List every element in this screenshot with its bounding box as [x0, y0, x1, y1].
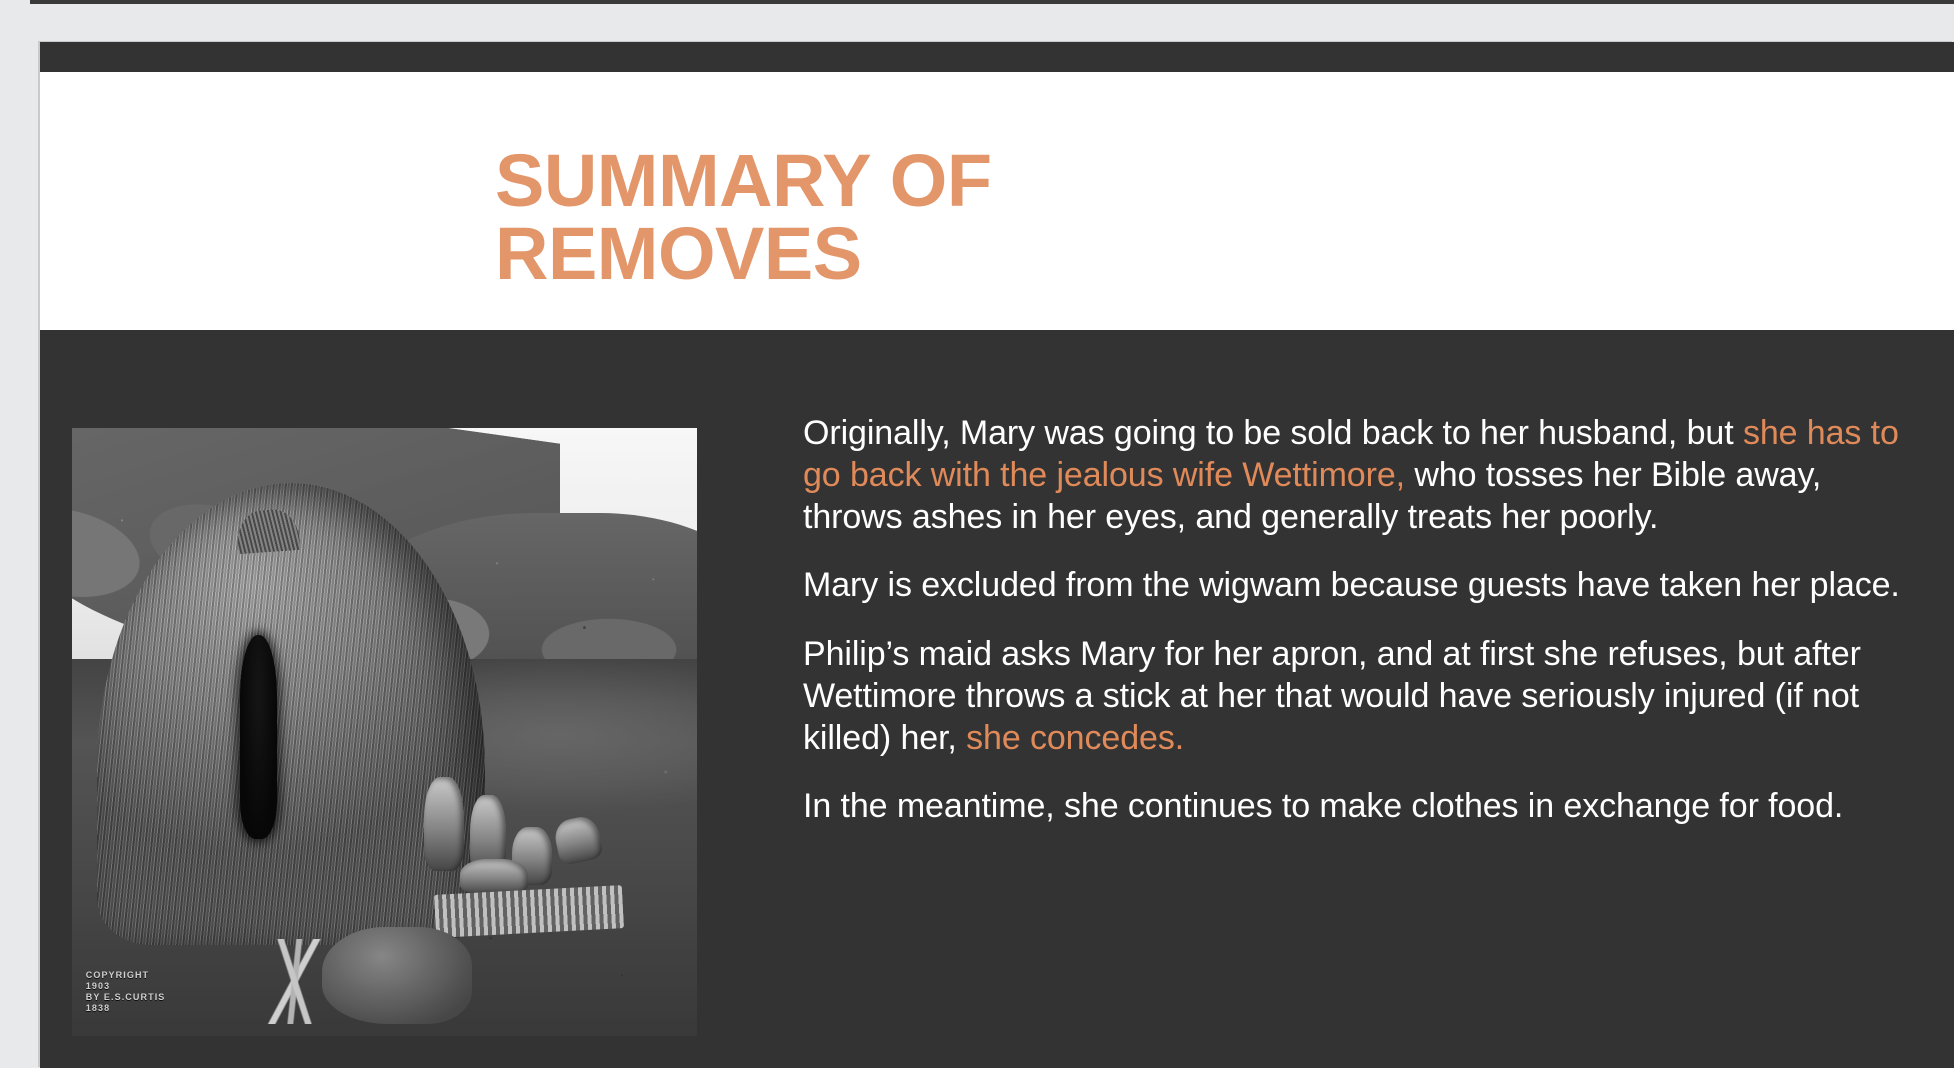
slide-photo[interactable]: COPYRIGHT 1903 BY E.S.CURTIS 1838: [72, 428, 697, 1036]
slide-body-panel: COPYRIGHT 1903 BY E.S.CURTIS 1838 Origin…: [40, 330, 1954, 1068]
body-paragraph: In the meantime, she continues to make c…: [803, 785, 1913, 827]
slide-header-band: [40, 42, 1954, 72]
photo-wigwam-crown: [235, 508, 300, 554]
slide-body-text: Originally, Mary was going to be sold ba…: [803, 412, 1913, 827]
photo-basket-tall: [424, 777, 464, 870]
slide[interactable]: SUMMARY OF REMOVES: [40, 42, 1954, 1068]
body-text-run: Originally, Mary was going to be sold ba…: [803, 414, 1743, 452]
photo-bowl-banded: [460, 859, 528, 894]
body-text-run: Mary is excluded from the wigwam because…: [803, 566, 1900, 604]
body-text-run: In the meantime, she continues to make c…: [803, 787, 1843, 825]
highlighted-text: she concedes.: [966, 719, 1184, 757]
photo-basket-striped: [552, 814, 604, 866]
body-paragraph: Mary is excluded from the wigwam because…: [803, 564, 1913, 606]
body-paragraph: Philip’s maid asks Mary for her apron, a…: [803, 633, 1913, 759]
slide-title-panel: SUMMARY OF REMOVES: [40, 72, 1954, 330]
presentation-app: SUMMARY OF REMOVES: [0, 0, 1954, 1068]
photo-foreground-rock: [322, 927, 472, 1024]
wigwam-photograph: COPYRIGHT 1903 BY E.S.CURTIS 1838: [72, 428, 697, 1036]
body-text-run: Philip’s maid asks Mary for her apron, a…: [803, 635, 1861, 757]
photo-wigwam-doorway: [240, 635, 277, 838]
body-paragraph: Originally, Mary was going to be sold ba…: [803, 412, 1913, 538]
page-title: SUMMARY OF REMOVES: [495, 144, 1695, 291]
photo-copyright-stamp: COPYRIGHT 1903 BY E.S.CURTIS 1838: [86, 970, 166, 1015]
